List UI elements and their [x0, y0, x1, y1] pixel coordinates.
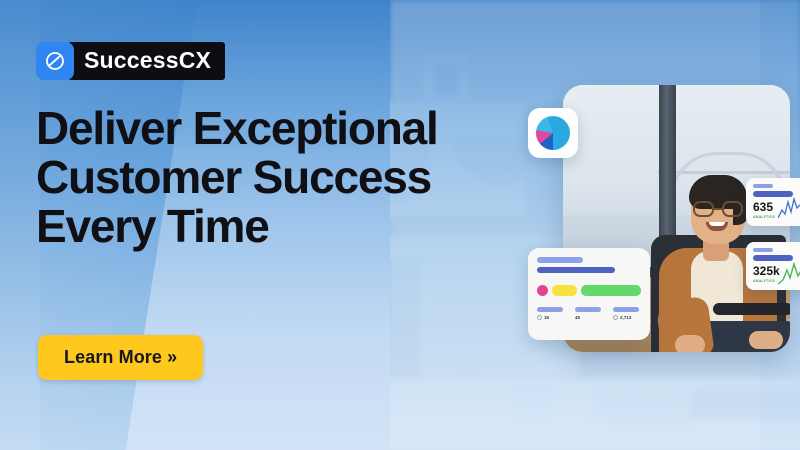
page-title: Deliver Exceptional Customer Success Eve…	[36, 104, 516, 252]
legend-item: 16	[537, 307, 565, 320]
legend-value: 45	[575, 315, 580, 320]
brand-wordmark: SuccessCX	[68, 42, 225, 80]
legend-bar	[575, 307, 601, 312]
placeholder-bar	[537, 267, 615, 273]
hero-content: SuccessCX Deliver Exceptional Customer S…	[0, 0, 430, 450]
legend-bar	[613, 307, 639, 312]
placeholder-bar	[537, 257, 583, 263]
legend-row: 16 45 2,713	[537, 307, 641, 320]
placeholder-bar	[753, 248, 773, 252]
green-pill	[581, 285, 641, 296]
legend-item: 45	[575, 307, 603, 320]
slashed-circle-logo-icon	[36, 42, 74, 80]
ring-icon	[613, 315, 618, 320]
stat-chip: 325k ANALYTICS	[746, 242, 800, 290]
person-hand	[675, 335, 705, 352]
learn-more-button[interactable]: Learn More »	[38, 335, 203, 380]
placeholder-bar	[753, 184, 773, 188]
legend-item: 2,713	[613, 307, 641, 320]
ring-icon	[537, 315, 542, 320]
eyeglasses-icon	[693, 201, 743, 217]
legend-value: 2,713	[620, 315, 631, 320]
dashboard-card: 16 45 2,713	[528, 248, 650, 340]
legend-value-wrap: 45	[575, 315, 603, 320]
legend-value-wrap: 16	[537, 315, 565, 320]
yellow-pill	[552, 285, 577, 296]
chair-armrest	[713, 303, 790, 315]
legend-value-wrap: 2,713	[613, 315, 641, 320]
sparkline-chart	[778, 196, 800, 222]
legend-bar	[537, 307, 563, 312]
person-hand	[749, 331, 783, 349]
pink-dot-icon	[537, 285, 548, 296]
stat-chip: 635 ANALYTICS	[746, 178, 800, 226]
hero-banner: 16 45 2,713 635 ANALYTICS	[0, 0, 800, 450]
status-pill-row	[537, 285, 641, 296]
brand-logo[interactable]: SuccessCX	[36, 42, 225, 80]
pie-chart-icon	[536, 116, 570, 150]
sparkline-chart	[778, 260, 800, 286]
pie-chart-card	[528, 108, 578, 158]
legend-value: 16	[544, 315, 549, 320]
